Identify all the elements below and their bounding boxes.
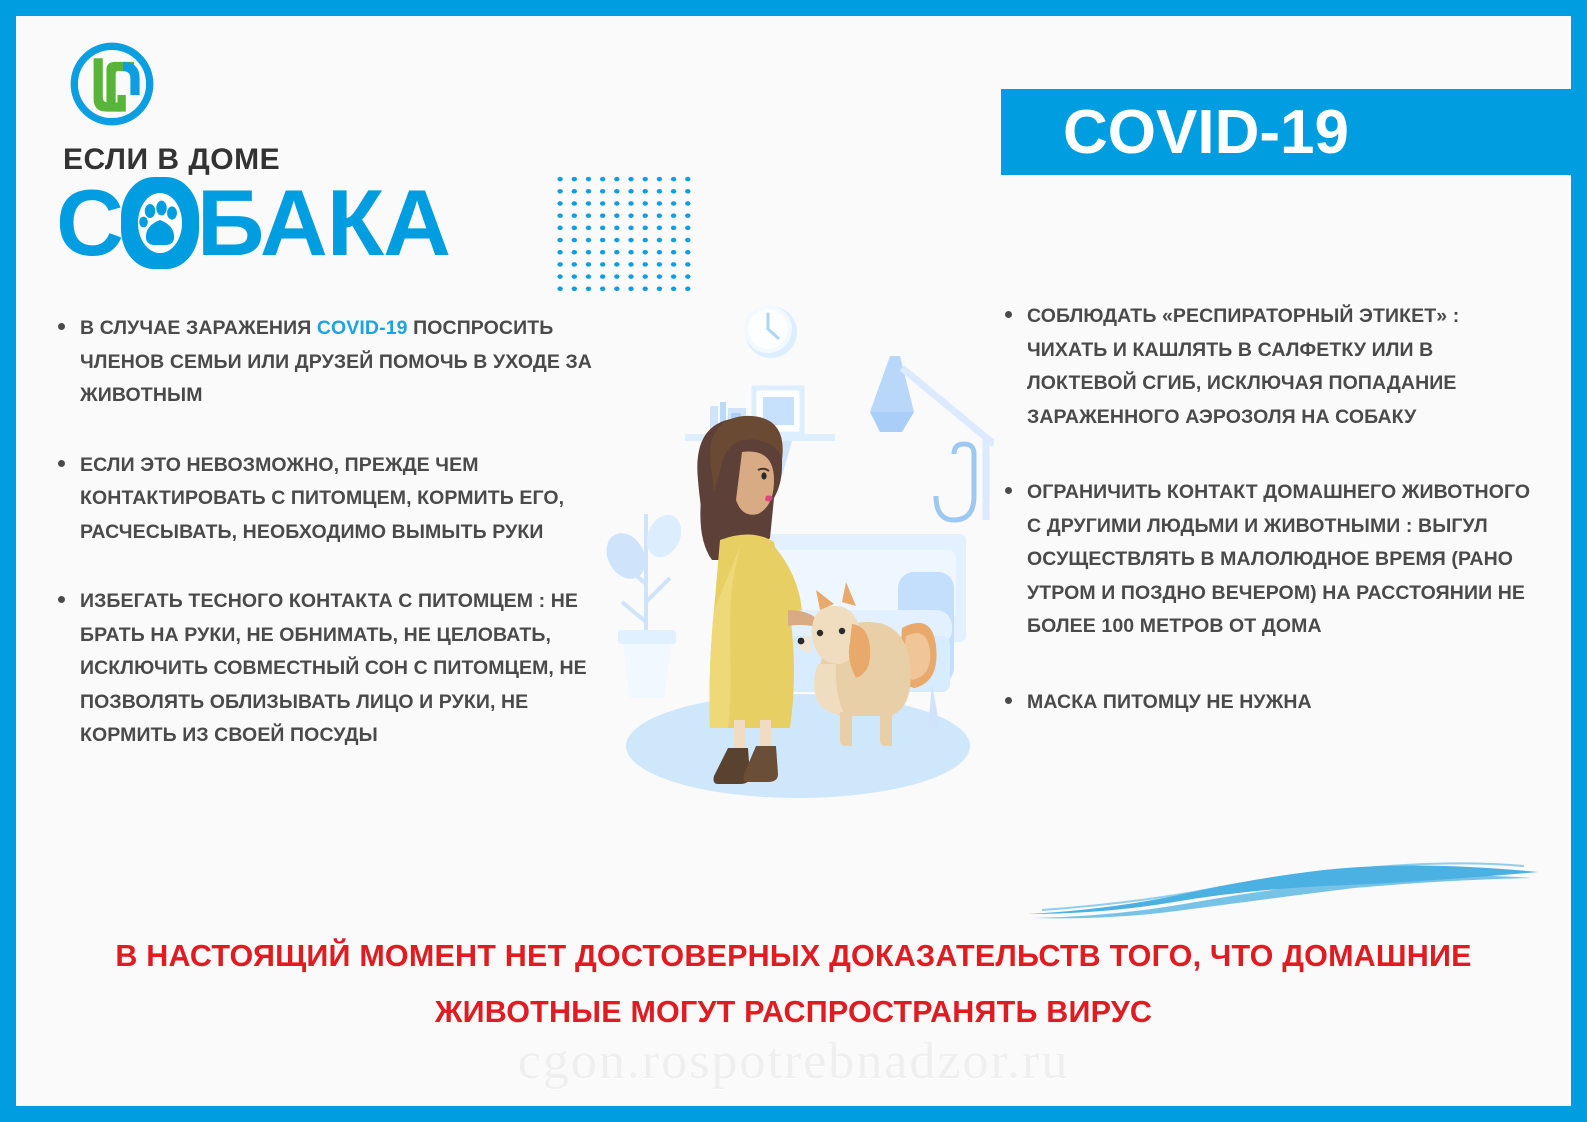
bullet-dot-icon	[58, 596, 65, 603]
bullet-text: МАСКА ПИТОМЦУ НЕ НУЖНА	[1027, 691, 1312, 713]
bullet-dot-icon	[58, 323, 65, 330]
list-item: В СЛУЧАЕ ЗАРАЖЕНИЯ COVID-19 ПОСПРОСИТЬ Ч…	[44, 312, 604, 413]
warning-text: В НАСТОЯЩИЙ МОМЕНТ НЕТ ДОСТОВЕРНЫХ ДОКАЗ…	[16, 928, 1571, 1041]
bullet-text-before: В СЛУЧАЕ ЗАРАЖЕНИЯ	[80, 317, 317, 339]
covid-badge-label: COVID-19	[1063, 97, 1349, 168]
covid-badge: COVID-19	[1001, 89, 1571, 175]
list-item: ЕСЛИ ЭТО НЕВОЗМОЖНО, ПРЕЖДЕ ЧЕМ КОНТАКТИ…	[44, 449, 604, 550]
paw-print-o-icon	[121, 177, 199, 269]
bullet-text: СОБЛЮДАТЬ «РЕСПИРАТОРНЫЙ ЭТИКЕТ» : ЧИХАТ…	[1027, 305, 1459, 428]
cgon-logo-icon	[66, 38, 158, 130]
bullet-text: ЕСЛИ ЭТО НЕВОЗМОЖНО, ПРЕЖДЕ ЧЕМ КОНТАКТИ…	[80, 454, 564, 543]
left-bullet-column: В СЛУЧАЕ ЗАРАЖЕНИЯ COVID-19 ПОСПРОСИТЬ Ч…	[44, 312, 604, 789]
list-item: СОБЛЮДАТЬ «РЕСПИРАТОРНЫЙ ЭТИКЕТ» : ЧИХАТ…	[991, 300, 1536, 434]
page-title: С БАКА	[56, 176, 450, 270]
bullet-dot-icon	[1005, 487, 1012, 494]
illustration-woman-with-dog	[602, 284, 994, 804]
bullet-highlight-covid: COVID-19	[317, 317, 408, 339]
poster-frame: ЕСЛИ В ДОМЕ С БАКА COVID-19	[0, 0, 1587, 1122]
watermark: cgon.rospotrebnadzor.ru	[16, 1032, 1571, 1091]
warning-line-1: В НАСТОЯЩИЙ МОМЕНТ НЕТ ДОСТОВЕРНЫХ ДОКАЗ…	[16, 928, 1571, 984]
bullet-dot-icon	[1005, 697, 1012, 704]
list-item: ОГРАНИЧИТЬ КОНТАКТ ДОМАШНЕГО ЖИВОТНОГО С…	[991, 476, 1536, 644]
list-item: ИЗБЕГАТЬ ТЕСНОГО КОНТАКТА С ПИТОМЦЕМ : Н…	[44, 585, 604, 753]
brush-stroke-decoration	[1024, 852, 1544, 922]
list-item: МАСКА ПИТОМЦУ НЕ НУЖНА	[991, 686, 1536, 720]
bullet-text: ИЗБЕГАТЬ ТЕСНОГО КОНТАКТА С ПИТОМЦЕМ : Н…	[80, 590, 587, 746]
page-title-part2: БАКА	[197, 176, 450, 270]
bullet-dot-icon	[58, 460, 65, 467]
dot-pattern-decoration	[551, 171, 693, 293]
page-title-part1: С	[56, 176, 123, 270]
bullet-dot-icon	[1005, 311, 1012, 318]
poster-body: ЕСЛИ В ДОМЕ С БАКА COVID-19	[16, 16, 1571, 1106]
bullet-text: ОГРАНИЧИТЬ КОНТАКТ ДОМАШНЕГО ЖИВОТНОГО С…	[1027, 481, 1530, 637]
right-bullet-column: СОБЛЮДАТЬ «РЕСПИРАТОРНЫЙ ЭТИКЕТ» : ЧИХАТ…	[991, 300, 1536, 719]
